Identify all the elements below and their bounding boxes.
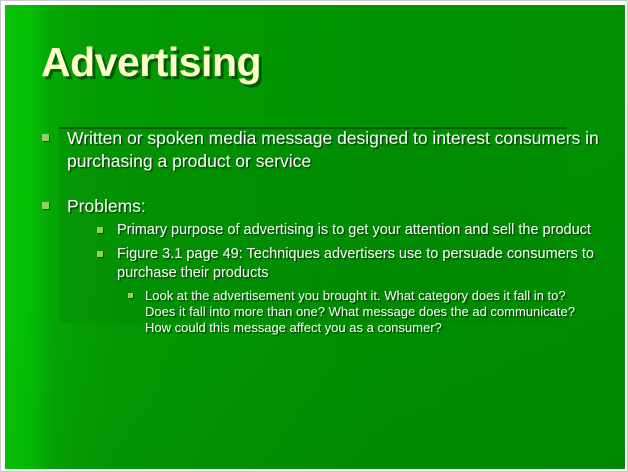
spacer <box>5 173 625 195</box>
bullet-text: Written or spoken media message designed… <box>67 127 603 173</box>
bullet-level2-item: Primary purpose of advertising is to get… <box>117 221 599 239</box>
bullet-square-icon <box>97 227 103 233</box>
bullet-level3-item: Look at the advertisement you brought it… <box>145 288 595 337</box>
bullet-square-icon <box>42 202 49 209</box>
slide-canvas: Advertising Written or spoken media mess… <box>5 5 625 469</box>
bullet-text: Figure 3.1 page 49: Techniques advertise… <box>117 245 599 281</box>
bullet-level2-item: Figure 3.1 page 49: Techniques advertise… <box>117 245 599 281</box>
bullet-text: Problems: <box>67 195 603 218</box>
bullet-square-icon <box>42 134 49 141</box>
presentation-slide: Advertising Written or spoken media mess… <box>0 0 628 472</box>
bullet-text: Look at the advertisement you brought it… <box>145 288 595 337</box>
slide-body: Written or spoken media message designed… <box>5 127 625 467</box>
bullet-square-icon <box>128 293 133 298</box>
bullet-text: Primary purpose of advertising is to get… <box>117 221 599 239</box>
bullet-level1-item: Problems: <box>67 195 603 218</box>
bullet-square-icon <box>97 251 103 257</box>
slide-title: Advertising <box>41 41 581 84</box>
bullet-level1-item: Written or spoken media message designed… <box>67 127 603 173</box>
